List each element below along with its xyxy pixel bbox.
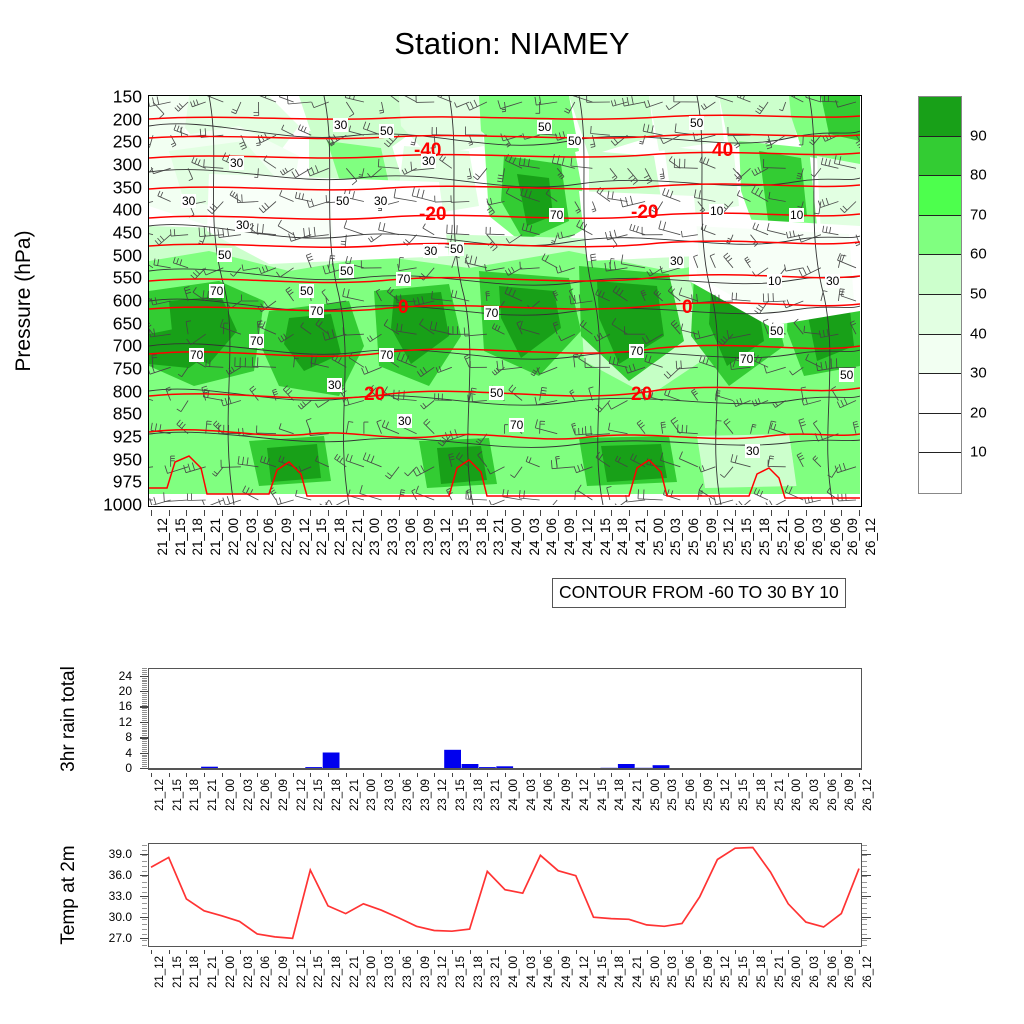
- x-tick-label-21_21: 21_21: [209, 518, 223, 556]
- rh-contour-label: 70: [379, 348, 394, 362]
- x-tickmark: [523, 950, 524, 954]
- x-tickmark: [841, 950, 842, 954]
- x-tick-label-26_03: 26_03: [811, 518, 825, 556]
- temp-y-minor-tickmark: [142, 934, 147, 935]
- rain-y-minor-tickmark: [142, 699, 147, 700]
- rain-y-minor-tickmark: [142, 710, 147, 711]
- main-y-axis-ticks: 1502002503003504004505005506006507007508…: [78, 95, 142, 507]
- temp-y-minor-tickmark: [142, 945, 147, 946]
- x-tickmark: [505, 510, 506, 516]
- rain-y-minor-tickmark: [142, 764, 147, 765]
- x-tick-label-26_09: 26_09: [845, 956, 857, 988]
- x-tickmark: [717, 510, 718, 516]
- x-tickmark: [594, 950, 595, 954]
- x-tick-label-24_12: 24_12: [580, 779, 592, 811]
- colorbar-label-60: 60: [970, 247, 987, 262]
- main-y-tick-250: 250: [113, 134, 142, 152]
- x-tick-label-22_00: 22_00: [227, 518, 241, 556]
- rain-bar: [444, 750, 461, 769]
- x-tickmark: [540, 950, 541, 954]
- x-tickmark: [346, 950, 347, 954]
- rh-contour-label: 30: [423, 244, 438, 258]
- x-tick-label-24_06: 24_06: [544, 956, 556, 988]
- x-tick-label-23_09: 23_09: [421, 779, 433, 811]
- rain-y-minor-tickmark: [142, 733, 147, 734]
- x-tick-label-25_18: 25_18: [758, 518, 772, 556]
- x-tick-label-23_12: 23_12: [438, 956, 450, 988]
- x-tick-label-26_12: 26_12: [863, 956, 875, 988]
- rain-y-tick-16: 16: [119, 700, 132, 712]
- temp-right-minor-tickmark: [862, 871, 867, 872]
- rain-y-minor-tickmark: [142, 680, 147, 681]
- x-tickmark: [505, 773, 506, 777]
- main-y-tick-550: 550: [113, 270, 142, 288]
- x-tickmark: [682, 950, 683, 954]
- x-tickmark: [204, 510, 205, 516]
- x-tickmark: [753, 773, 754, 777]
- x-tickmark: [328, 950, 329, 954]
- x-tickmark: [824, 510, 825, 516]
- x-tickmark: [611, 510, 612, 516]
- x-tick-label-22_06: 22_06: [261, 956, 273, 988]
- x-tick-label-23_21: 23_21: [491, 956, 503, 988]
- rain-y-minor-tickmark: [142, 737, 147, 738]
- x-tickmark: [452, 510, 453, 516]
- rh-contour-label: 50: [567, 134, 582, 148]
- x-tick-label-23_18: 23_18: [474, 956, 486, 988]
- temp-right-minor-tickmark: [862, 945, 867, 946]
- x-tick-label-23_00: 23_00: [367, 956, 379, 988]
- x-tickmark: [700, 950, 701, 954]
- rh-contour-label: 70: [309, 304, 324, 318]
- rain-y-minor-tickmark: [142, 668, 147, 669]
- rain-y-minor-tickmark: [142, 756, 147, 757]
- colorbar-band-1: [919, 137, 961, 177]
- rh-contour-label: 50: [489, 386, 504, 400]
- x-tick-label-25_03: 25_03: [668, 956, 680, 988]
- x-tick-label-22_21: 22_21: [350, 779, 362, 811]
- rain-y-minor-tickmark: [142, 676, 147, 677]
- rh-contour-label: 30: [181, 194, 196, 208]
- x-tickmark: [558, 773, 559, 777]
- temp-y-minor-tickmark: [142, 882, 147, 883]
- x-tick-label-23_06: 23_06: [403, 779, 415, 811]
- x-tick-label-22_12: 22_12: [297, 956, 309, 988]
- x-tickmark: [417, 773, 418, 777]
- x-tick-label-21_12: 21_12: [155, 956, 167, 988]
- temp-y-tick-30.0: 30.0: [109, 911, 132, 923]
- x-tick-label-24_00: 24_00: [509, 779, 521, 811]
- rh-contour-label: 70: [549, 208, 564, 222]
- rain-y-minor-tickmark: [142, 714, 147, 715]
- x-tick-label-26_09: 26_09: [845, 779, 857, 811]
- x-tickmark: [310, 950, 311, 954]
- rh-contour-label: 30: [669, 254, 684, 268]
- rh-contour-label: 50: [839, 368, 854, 382]
- x-tick-label-22_03: 22_03: [244, 956, 256, 988]
- x-tickmark: [735, 510, 736, 516]
- rain-y-minor-tickmark: [142, 712, 147, 713]
- rain-y-minor-tickmark: [142, 753, 147, 754]
- x-tick-label-23_21: 23_21: [492, 518, 506, 556]
- x-tick-label-23_00: 23_00: [368, 518, 382, 556]
- main-y-tick-975: 975: [113, 474, 142, 492]
- temp-y-minor-tickmark: [142, 866, 147, 867]
- rain-y-tick-24: 24: [119, 670, 132, 682]
- rain-bar-chart: [148, 668, 862, 770]
- colorbar-band-0: [919, 97, 961, 137]
- temp-right-minor-tickmark: [862, 866, 867, 867]
- temp-right-minor-tickmark: [862, 845, 867, 846]
- x-tickmark: [806, 510, 807, 516]
- page-title: Station: NIAMEY: [0, 26, 1024, 62]
- x-tick-label-26_06: 26_06: [828, 779, 840, 811]
- rh-contour-label: 50: [299, 284, 314, 298]
- x-tick-label-25_06: 25_06: [686, 956, 698, 988]
- x-tick-label-24_12: 24_12: [580, 956, 592, 988]
- x-tick-label-25_18: 25_18: [757, 956, 769, 988]
- x-tick-label-24_15: 24_15: [598, 779, 610, 811]
- x-tick-label-25_09: 25_09: [704, 956, 716, 988]
- x-tick-label-22_09: 22_09: [279, 779, 291, 811]
- temp-right-minor-tickmark: [862, 861, 867, 862]
- x-tickmark: [753, 510, 754, 516]
- x-tick-label-24_03: 24_03: [528, 518, 542, 556]
- x-tick-label-25_03: 25_03: [669, 518, 683, 556]
- x-tick-label-25_00: 25_00: [652, 518, 666, 556]
- x-tickmark: [717, 950, 718, 954]
- main-y-tick-600: 600: [113, 292, 142, 310]
- temp-y-minor-tickmark: [142, 850, 147, 851]
- colorbar-band-7: [919, 374, 961, 414]
- x-tickmark: [310, 510, 311, 516]
- x-tickmark: [186, 950, 187, 954]
- x-tick-label-23_21: 23_21: [491, 779, 503, 811]
- x-tick-label-23_03: 23_03: [385, 779, 397, 811]
- temperature-line: [151, 848, 859, 939]
- rain-y-minor-tickmark: [142, 730, 147, 731]
- rain-y-minor-tickmark: [142, 768, 147, 769]
- main-y-tick-850: 850: [113, 406, 142, 424]
- rain-y-tick-12: 12: [119, 716, 132, 728]
- x-tick-label-23_12: 23_12: [439, 518, 453, 556]
- isotherm-label-minus20-right: -20: [631, 202, 658, 224]
- x-tick-label-21_18: 21_18: [190, 779, 202, 811]
- x-tick-label-24_21: 24_21: [633, 779, 645, 811]
- temp-x-axis-ticks: 21_1221_1521_1821_2122_0022_0322_0622_09…: [148, 950, 862, 1010]
- rain-y-tick-0: 0: [125, 762, 132, 774]
- x-tick-label-22_09: 22_09: [279, 956, 291, 988]
- x-tick-label-21_18: 21_18: [190, 956, 202, 988]
- temp-y-minor-tickmark: [142, 940, 147, 941]
- isotherm-label-minus40-right: 40: [712, 140, 733, 162]
- main-y-tick-750: 750: [113, 360, 142, 378]
- x-tickmark: [647, 510, 648, 516]
- temp-right-minor-tickmark: [862, 913, 867, 914]
- x-tickmark: [434, 950, 435, 954]
- temp-right-minor-tickmark: [862, 876, 867, 877]
- x-tickmark: [576, 510, 577, 516]
- temp-y-tickmarks: [140, 843, 148, 947]
- colorbar-label-70: 70: [970, 207, 987, 222]
- x-tick-label-24_03: 24_03: [527, 956, 539, 988]
- x-tickmark: [204, 950, 205, 954]
- x-tickmark: [523, 510, 524, 516]
- rain-y-minor-tickmark: [142, 751, 147, 752]
- x-tick-label-25_06: 25_06: [687, 518, 701, 556]
- x-tickmark: [629, 773, 630, 777]
- temp-right-minor-tickmark: [862, 934, 867, 935]
- rh-contour-label: 70: [396, 272, 411, 286]
- rain-y-minor-tickmark: [142, 739, 147, 740]
- x-tickmark: [257, 773, 258, 777]
- rain-y-minor-tickmark: [142, 724, 147, 725]
- x-tickmark: [222, 950, 223, 954]
- x-tickmark: [700, 773, 701, 777]
- x-tickmark: [682, 773, 683, 777]
- main-y-tick-700: 700: [113, 338, 142, 356]
- rh-contour-label: 50: [335, 194, 350, 208]
- x-tick-label-26_12: 26_12: [863, 779, 875, 811]
- x-tick-label-21_15: 21_15: [173, 779, 185, 811]
- x-tick-label-22_15: 22_15: [315, 518, 329, 556]
- x-tick-label-25_00: 25_00: [651, 956, 663, 988]
- x-tick-label-25_21: 25_21: [776, 518, 790, 556]
- x-tickmark: [222, 510, 223, 516]
- x-tick-label-25_18: 25_18: [757, 779, 769, 811]
- temp-right-minor-tickmark: [862, 919, 867, 920]
- rain-y-minor-tickmark: [142, 716, 147, 717]
- rain-y-minor-tickmark: [142, 691, 147, 692]
- rh-contour-label: 10: [767, 274, 782, 288]
- colorbar-band-9: [919, 453, 961, 493]
- rain-y-minor-tickmark: [142, 743, 147, 744]
- temp-right-minor-tickmark: [862, 887, 867, 888]
- main-y-tick-300: 300: [113, 156, 142, 174]
- x-tickmark: [735, 950, 736, 954]
- rain-bars-svg: [149, 669, 861, 769]
- rain-y-axis-label: 3hr rain total: [56, 655, 82, 783]
- x-tick-label-21_12: 21_12: [155, 779, 167, 811]
- x-tick-label-25_00: 25_00: [651, 779, 663, 811]
- temp-y-axis-ticks: 27.030.033.036.039.0: [84, 843, 140, 947]
- x-tickmark: [594, 773, 595, 777]
- x-tickmark: [576, 773, 577, 777]
- x-tickmark: [806, 773, 807, 777]
- temp-right-minor-tickmark: [862, 940, 867, 941]
- x-tick-label-23_09: 23_09: [421, 956, 433, 988]
- rh-contour-label: 30: [229, 156, 244, 170]
- x-tick-label-25_15: 25_15: [740, 518, 754, 556]
- rh-contour-label: 10: [709, 204, 724, 218]
- rh-contour-label: 50: [449, 242, 464, 256]
- x-tick-label-22_12: 22_12: [297, 779, 309, 811]
- x-tick-label-25_15: 25_15: [739, 956, 751, 988]
- rh-contour-label: 70: [739, 352, 754, 366]
- x-tickmark: [293, 510, 294, 516]
- x-tick-label-25_12: 25_12: [722, 518, 736, 556]
- rain-y-minor-tickmark: [142, 726, 147, 727]
- x-tickmark: [859, 510, 860, 516]
- x-tickmark: [540, 773, 541, 777]
- x-tickmark: [293, 773, 294, 777]
- x-tickmark: [399, 773, 400, 777]
- rh-contour-label: 30: [745, 444, 760, 458]
- x-tick-label-23_15: 23_15: [456, 956, 468, 988]
- x-tickmark: [788, 773, 789, 777]
- x-tickmark: [735, 773, 736, 777]
- x-tickmark: [381, 510, 382, 516]
- rh-contour-label: 50: [217, 248, 232, 262]
- x-tickmark: [328, 773, 329, 777]
- x-tick-label-24_12: 24_12: [581, 518, 595, 556]
- rain-y-minor-tickmark: [142, 745, 147, 746]
- temp-y-minor-tickmark: [142, 855, 147, 856]
- rh-contour-label: 30: [397, 414, 412, 428]
- x-tickmark: [169, 510, 170, 516]
- main-y-axis-label: Pressure (hPa): [10, 95, 38, 507]
- x-tick-label-21_12: 21_12: [156, 518, 170, 556]
- x-tickmark: [629, 510, 630, 516]
- x-tickmark: [487, 510, 488, 516]
- x-tick-label-25_12: 25_12: [721, 956, 733, 988]
- x-tickmark: [151, 773, 152, 777]
- x-tick-label-25_03: 25_03: [668, 779, 680, 811]
- x-tick-label-23_15: 23_15: [457, 518, 471, 556]
- x-tickmark: [859, 773, 860, 777]
- x-tick-label-24_18: 24_18: [616, 518, 630, 556]
- colorbar-label-80: 80: [970, 168, 987, 183]
- temp-y-minor-tickmark: [142, 919, 147, 920]
- temp-y-minor-tickmark: [142, 898, 147, 899]
- x-tickmark: [346, 510, 347, 516]
- temp-y-minor-tickmark: [142, 892, 147, 893]
- x-tickmark: [594, 510, 595, 516]
- rain-y-minor-tickmark: [142, 720, 147, 721]
- x-tick-label-22_09: 22_09: [280, 518, 294, 556]
- isotherm-label-twenty-right: 20: [631, 384, 652, 406]
- x-tickmark: [381, 950, 382, 954]
- rh-contour-label: 70: [629, 344, 644, 358]
- x-tick-label-23_00: 23_00: [367, 779, 379, 811]
- x-tickmark: [523, 773, 524, 777]
- x-tick-label-23_06: 23_06: [404, 518, 418, 556]
- x-tickmark: [310, 773, 311, 777]
- x-tickmark: [434, 510, 435, 516]
- x-tick-label-24_06: 24_06: [544, 779, 556, 811]
- x-tick-label-22_00: 22_00: [226, 779, 238, 811]
- temp-right-tickmarks: [862, 843, 872, 947]
- rain-y-tick-8: 8: [125, 731, 132, 743]
- x-tickmark: [328, 510, 329, 516]
- rain-y-minor-tickmark: [142, 760, 147, 761]
- rain-y-minor-tickmark: [142, 706, 147, 707]
- main-y-tick-1000: 1000: [103, 496, 142, 514]
- x-tickmark: [452, 950, 453, 954]
- x-tick-label-24_09: 24_09: [562, 956, 574, 988]
- temp-right-minor-tickmark: [862, 929, 867, 930]
- rain-y-minor-tickmark: [142, 735, 147, 736]
- main-y-tick-350: 350: [113, 179, 142, 197]
- x-tickmark: [470, 950, 471, 954]
- x-tick-label-24_06: 24_06: [545, 518, 559, 556]
- x-tickmark: [487, 950, 488, 954]
- temp-y-minor-tickmark: [142, 845, 147, 846]
- x-tick-label-21_18: 21_18: [191, 518, 205, 556]
- colorbar-band-4: [919, 255, 961, 295]
- x-tick-label-25_15: 25_15: [739, 779, 751, 811]
- rain-y-minor-tickmark: [142, 687, 147, 688]
- x-tick-label-25_09: 25_09: [704, 779, 716, 811]
- x-tick-label-22_15: 22_15: [314, 779, 326, 811]
- x-tick-label-24_09: 24_09: [562, 779, 574, 811]
- rh-contour-label: 70: [189, 348, 204, 362]
- rh-contour-label: 70: [249, 334, 264, 348]
- temp-y-minor-tickmark: [142, 908, 147, 909]
- colorbar-band-3: [919, 216, 961, 256]
- x-tickmark: [363, 510, 364, 516]
- rain-y-minor-tickmark: [142, 678, 147, 679]
- x-tick-label-24_00: 24_00: [509, 956, 521, 988]
- main-y-tick-450: 450: [113, 224, 142, 242]
- x-tickmark: [824, 950, 825, 954]
- x-tick-label-26_06: 26_06: [828, 956, 840, 988]
- weather-sounding-page: Station: NIAMEY Pressure (hPa) 150200250…: [0, 0, 1024, 1024]
- x-tick-label-25_12: 25_12: [721, 779, 733, 811]
- x-tick-label-26_09: 26_09: [846, 518, 860, 556]
- main-y-tick-400: 400: [113, 202, 142, 220]
- rain-y-minor-tickmark: [142, 758, 147, 759]
- x-tickmark: [771, 950, 772, 954]
- x-tick-label-22_21: 22_21: [351, 518, 365, 556]
- x-tickmark: [169, 773, 170, 777]
- x-tick-label-23_18: 23_18: [474, 779, 486, 811]
- x-tickmark: [399, 950, 400, 954]
- x-tick-label-22_12: 22_12: [298, 518, 312, 556]
- x-tickmark: [240, 510, 241, 516]
- x-tick-label-24_18: 24_18: [615, 956, 627, 988]
- x-tick-label-26_00: 26_00: [792, 956, 804, 988]
- x-tickmark: [558, 510, 559, 516]
- temp-right-minor-tickmark: [862, 903, 867, 904]
- x-tick-label-23_03: 23_03: [386, 518, 400, 556]
- x-tick-label-24_15: 24_15: [598, 956, 610, 988]
- rain-x-axis-ticks: 21_1221_1521_1821_2122_0022_0322_0622_09…: [148, 773, 862, 833]
- x-tickmark: [806, 950, 807, 954]
- x-tick-label-22_03: 22_03: [245, 518, 259, 556]
- x-tick-label-21_21: 21_21: [208, 779, 220, 811]
- rh-contour-label: 50: [769, 324, 784, 338]
- rh-contour-label: 10: [789, 208, 804, 222]
- x-tickmark: [859, 950, 860, 954]
- main-y-tick-500: 500: [113, 247, 142, 265]
- temp-y-tick-27.0: 27.0: [109, 932, 132, 944]
- x-tick-label-24_15: 24_15: [599, 518, 613, 556]
- rh-contour-label: 30: [333, 118, 348, 132]
- rain-y-tickmarks: [140, 668, 148, 770]
- rain-y-minor-tickmark: [142, 695, 147, 696]
- x-tick-label-26_00: 26_00: [793, 518, 807, 556]
- rh-contour-label: 70: [509, 418, 524, 432]
- x-tickmark: [470, 773, 471, 777]
- x-tick-label-21_21: 21_21: [208, 956, 220, 988]
- x-tickmark: [505, 950, 506, 954]
- rain-y-minor-tickmark: [142, 755, 147, 756]
- x-tickmark: [470, 510, 471, 516]
- x-tick-label-22_00: 22_00: [226, 956, 238, 988]
- rain-y-minor-tickmark: [142, 766, 147, 767]
- x-tickmark: [452, 773, 453, 777]
